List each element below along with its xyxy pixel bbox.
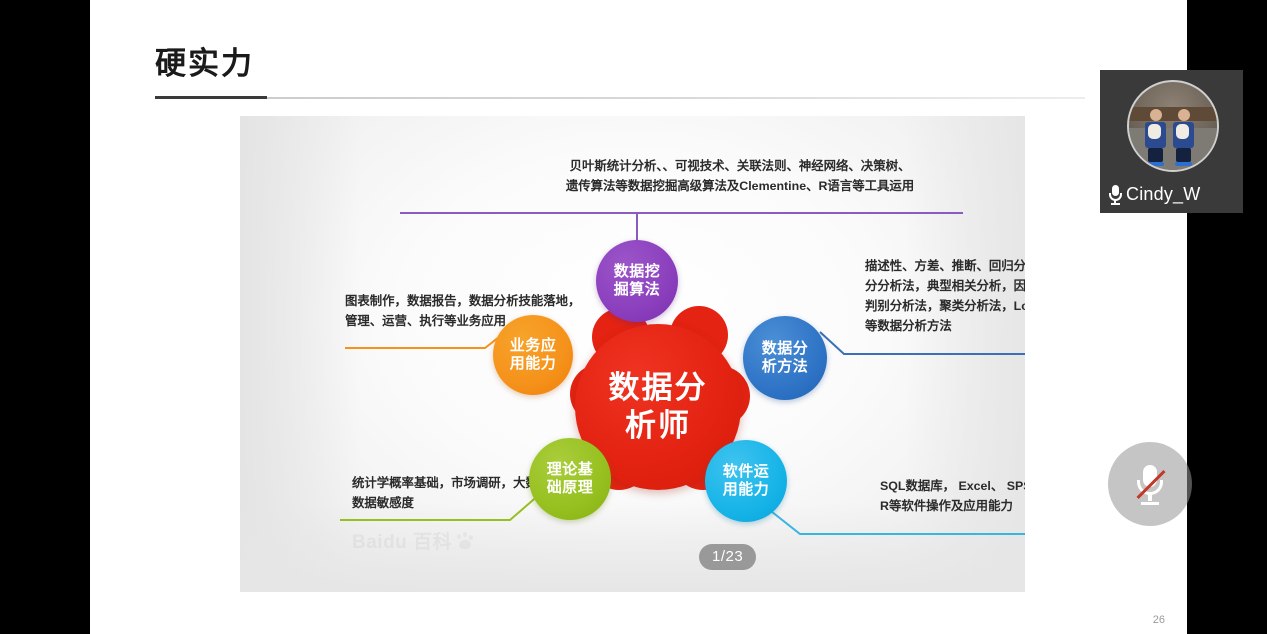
diagram-image: 贝叶斯统计分析、、可视技术、关联法则、神经网络、决策树、 遗传算法等数据挖掘高级… [240, 116, 1025, 592]
node-software-skills-line1: 软件运 [723, 463, 770, 481]
screen-root: 硬实力 贝叶斯统计分析、、可视技术 [0, 0, 1267, 634]
mute-button[interactable] [1108, 442, 1192, 526]
title-divider [155, 97, 1085, 99]
node-business-application: 业务应 用能力 [493, 315, 573, 395]
participant-name: Cindy_W [1126, 184, 1200, 205]
node-software-skills: 软件运 用能力 [705, 440, 787, 522]
node-data-mining-line2: 掘算法 [614, 281, 661, 299]
slide-title-wrap: 硬实力 [155, 45, 1085, 88]
node-analysis-method-line1: 数据分 [762, 340, 809, 358]
avatar [1127, 80, 1219, 172]
microphone-icon [1108, 185, 1122, 205]
title-accent-bar [155, 96, 267, 99]
participant-video-tile[interactable]: Cindy_W [1100, 70, 1243, 213]
node-theory-basics: 理论基 础原理 [529, 438, 611, 520]
image-page-indicator: 1/23 [699, 544, 756, 570]
participant-label: Cindy_W [1108, 184, 1200, 205]
node-theory-basics-line1: 理论基 [547, 461, 594, 479]
paw-icon [455, 532, 475, 550]
node-business-application-line2: 用能力 [510, 355, 557, 373]
node-center-line2: 析师 [625, 407, 691, 445]
node-center-line1: 数据分 [609, 369, 708, 407]
node-data-mining-line1: 数据挖 [614, 263, 661, 281]
node-analysis-method-line2: 析方法 [762, 358, 809, 376]
node-software-skills-line2: 用能力 [723, 481, 770, 499]
node-business-application-line1: 业务应 [510, 337, 557, 355]
microphone-muted-icon [1135, 463, 1165, 505]
avatar-child-right [1173, 109, 1194, 166]
node-data-mining: 数据挖 掘算法 [596, 240, 678, 322]
callout-left: 图表制作，数据报告，数据分析技能落地， 管理、运营、执行等业务应用 [345, 291, 610, 331]
callout-right: 描述性、方差、推断、回归分析法，主成 分分析法，典型相关分析，因子分析法， 判别… [865, 256, 1025, 336]
watermark-label: Baidu 百科 [352, 527, 452, 554]
baidu-watermark: Baidu 百科 [352, 527, 475, 554]
node-analysis-method: 数据分 析方法 [743, 316, 827, 400]
node-theory-basics-line2: 础原理 [547, 479, 594, 497]
slide-number: 26 [1153, 614, 1165, 626]
callout-top: 贝叶斯统计分析、、可视技术、关联法则、神经网络、决策树、 遗传算法等数据挖掘高级… [540, 156, 940, 196]
presentation-slide: 硬实力 贝叶斯统计分析、、可视技术 [90, 0, 1187, 634]
callout-bottom-right: SQL数据库， Excel、 SPSS、SAS、 R等软件操作及应用能力 [880, 476, 1025, 516]
avatar-child-left [1145, 109, 1166, 166]
page-title: 硬实力 [155, 45, 254, 88]
